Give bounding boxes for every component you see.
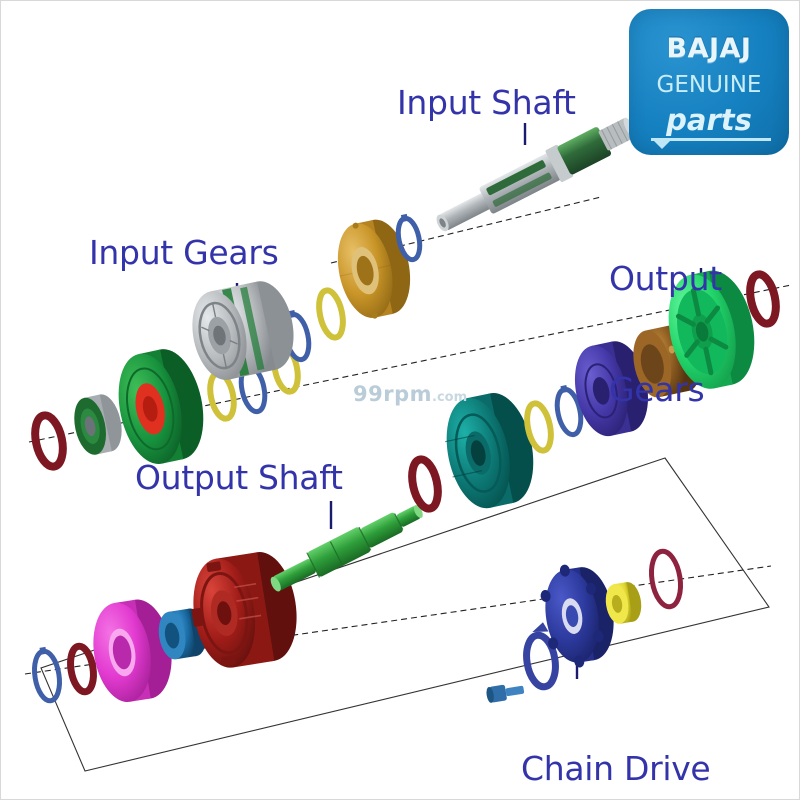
part-dark-red-ring-mid bbox=[408, 457, 442, 511]
logo-brand-text: BAJAJ bbox=[629, 33, 789, 64]
callout-output-gears: Output Gears bbox=[609, 187, 722, 483]
callout-chain-drive-line1: Chain Drive bbox=[521, 751, 710, 788]
logo-genuine-text: GENUINE bbox=[629, 72, 789, 98]
watermark-tld: .com bbox=[432, 390, 467, 405]
watermark-name: 99rpm bbox=[353, 382, 432, 406]
logo-parts-text: parts bbox=[629, 103, 789, 137]
part-chain-drive-sprocket bbox=[536, 558, 620, 672]
part-synchro-hub-assembly bbox=[185, 276, 302, 385]
part-green-gear-large bbox=[109, 343, 212, 470]
part-dark-red-washer bbox=[31, 413, 67, 469]
part-dark-red-ring-lower bbox=[68, 645, 97, 694]
exploded-parts-diagram: Input Shaft Input Gears Output Gears Out… bbox=[0, 0, 800, 800]
callout-output-gears-line2: Gears bbox=[609, 372, 722, 409]
callout-input-shaft: Input Shaft bbox=[397, 85, 576, 122]
callout-input-gears: Input Gears bbox=[89, 235, 279, 272]
callout-output-gears-line1: Output bbox=[609, 261, 722, 298]
callout-output-shaft: Output Shaft bbox=[135, 460, 343, 497]
part-output-shaft bbox=[266, 497, 428, 598]
part-bearing-small bbox=[69, 391, 126, 457]
watermark: 99rpm.com bbox=[353, 382, 467, 406]
bajaj-genuine-parts-logo: BAJAJ GENUINE parts bbox=[629, 9, 789, 155]
callout-chain-drive-sprocket: Chain Drive Sprocket bbox=[521, 677, 710, 800]
part-maroon-ring bbox=[648, 549, 684, 609]
part-blue-bolt bbox=[485, 682, 525, 704]
part-blue-circlip-5 bbox=[31, 645, 63, 702]
part-yellow-ring-3 bbox=[315, 288, 346, 340]
part-red-clutch-housing bbox=[184, 548, 304, 673]
logo-chevron-icon bbox=[653, 140, 671, 149]
